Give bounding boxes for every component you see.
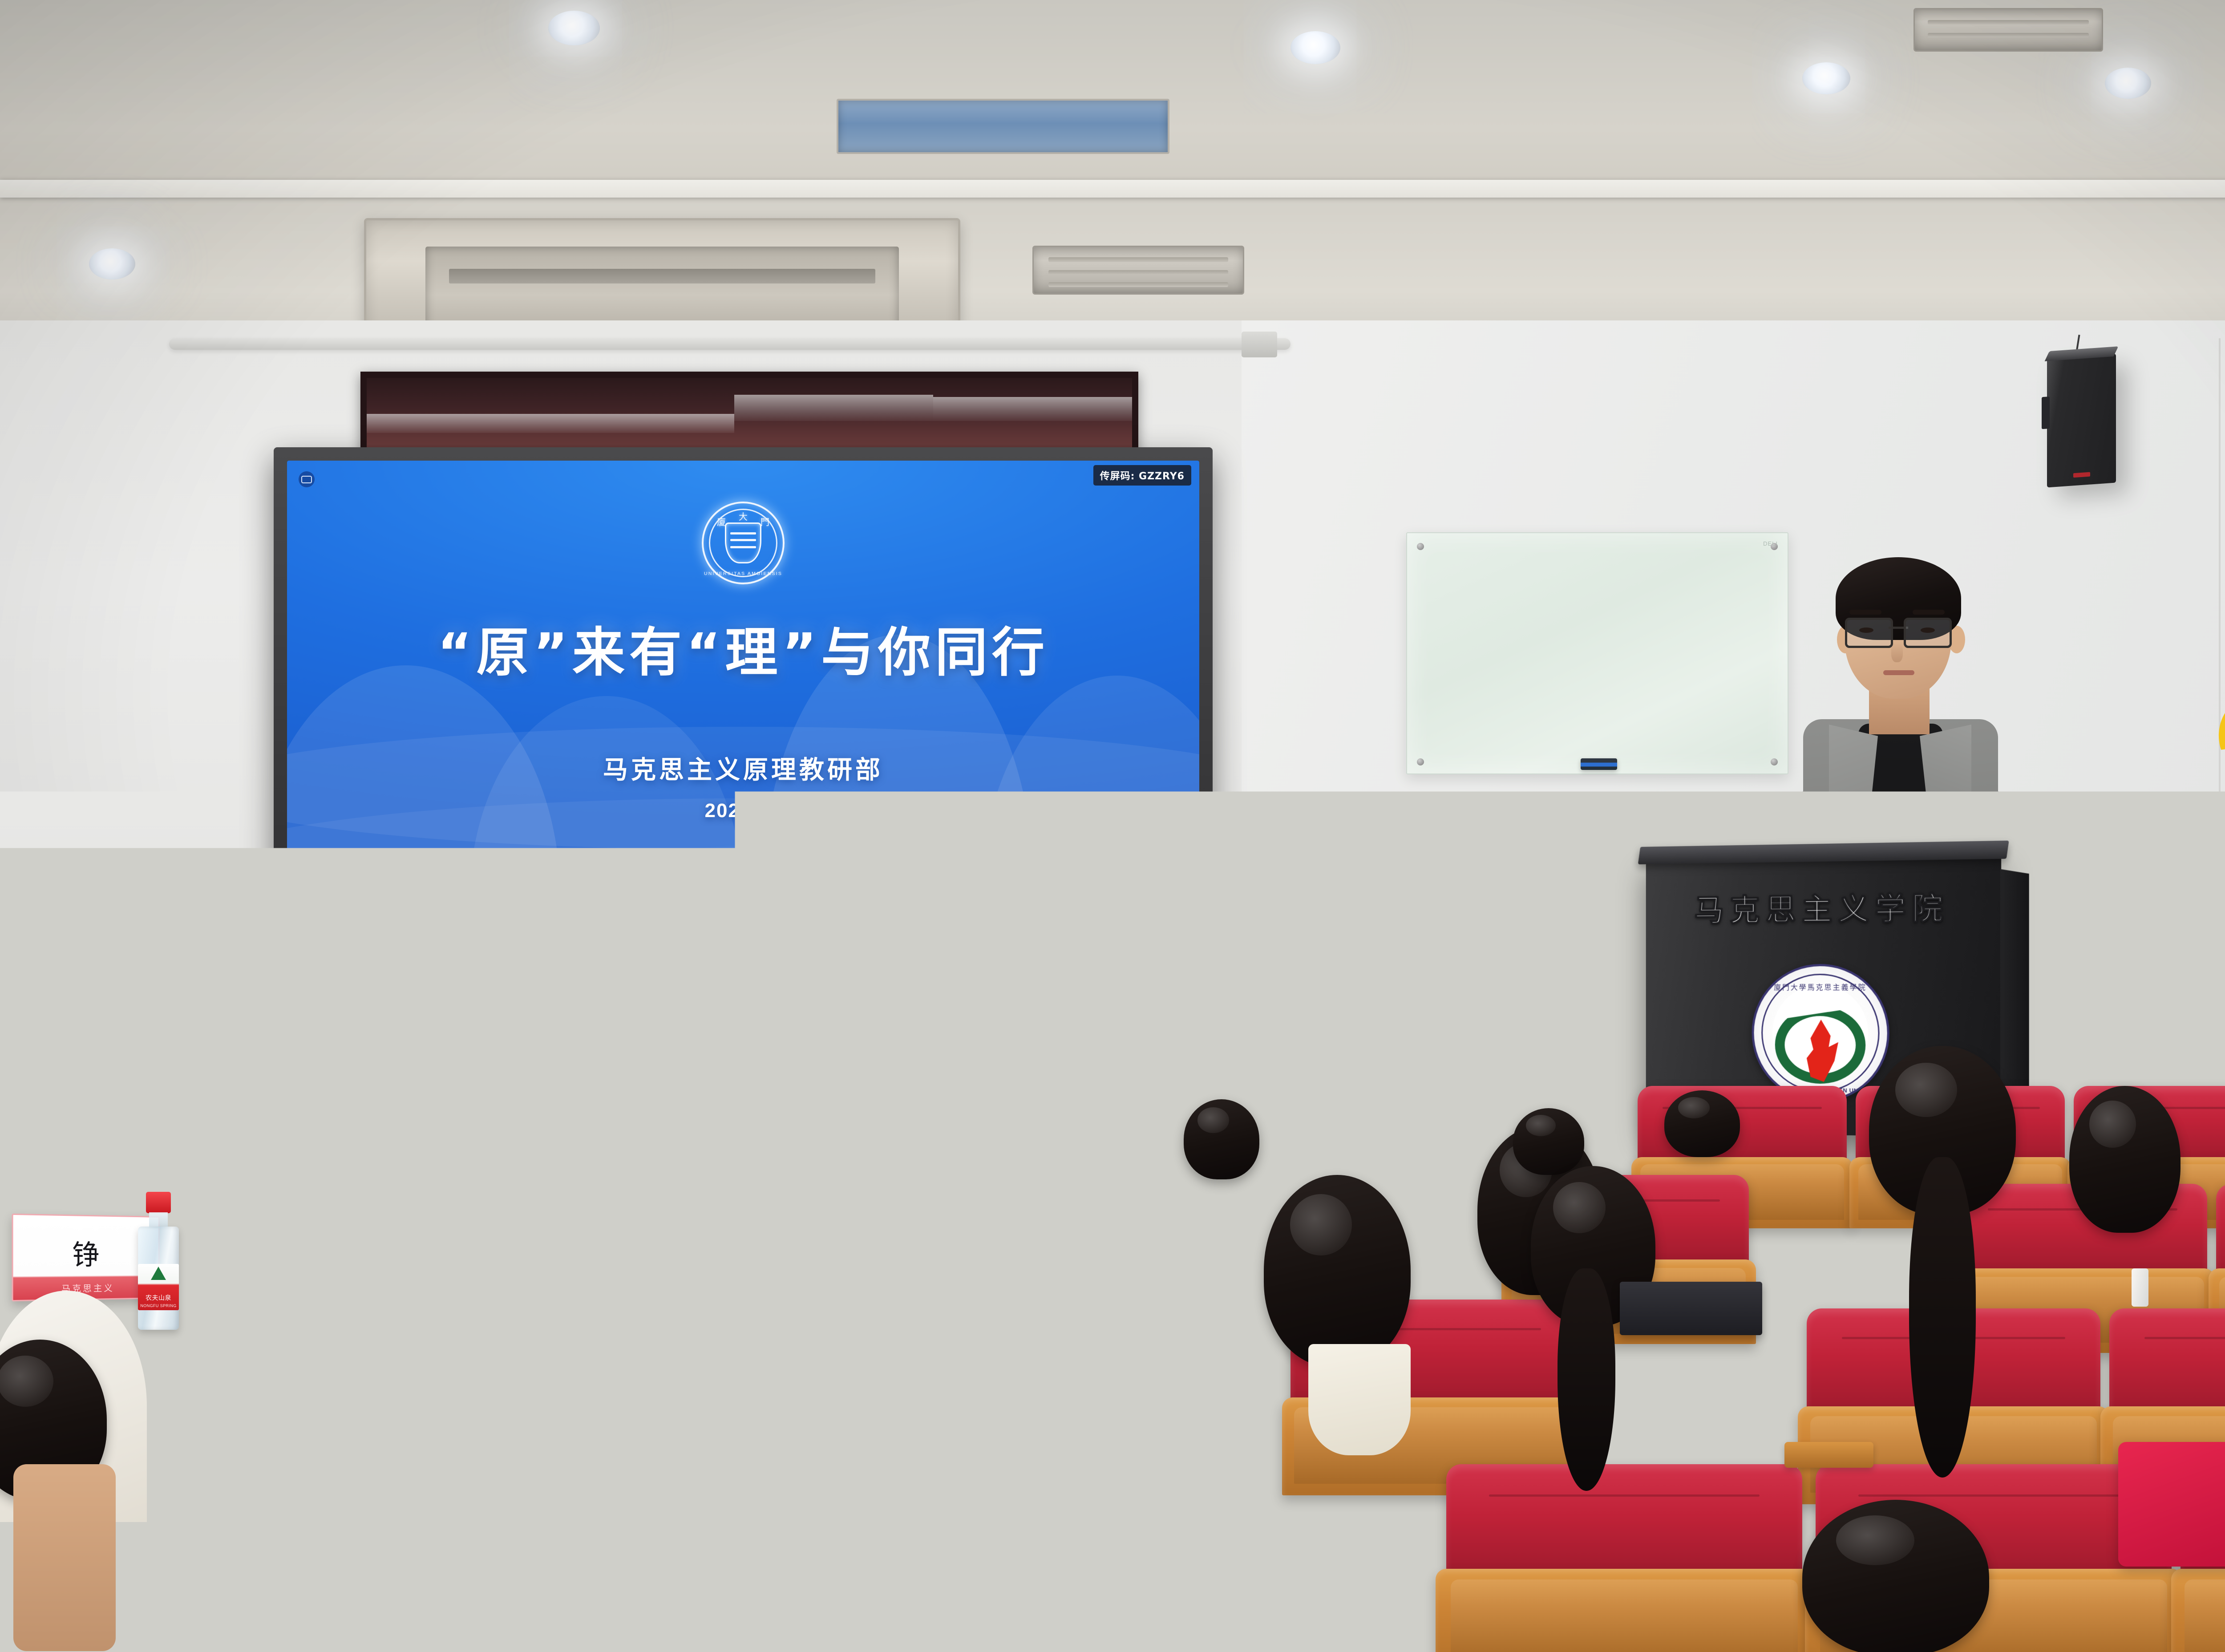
audience-person-arm xyxy=(13,1464,116,1651)
audience-person-head xyxy=(2069,1086,2180,1233)
seat-armrest xyxy=(1784,1442,1873,1468)
audience-person-head xyxy=(1184,1099,1259,1179)
audience-person-ponytail xyxy=(1557,1268,1615,1491)
blue-marker-eraser-icon[interactable] xyxy=(1581,758,1617,770)
screen-cast-icon[interactable] xyxy=(299,471,315,487)
air-conditioner-icon xyxy=(837,99,1169,154)
name-card: 铮 马克思主义 xyxy=(12,1214,159,1301)
air-conditioner-icon xyxy=(1032,246,1244,295)
audience-person-head xyxy=(1664,1090,1740,1157)
emblem-ring-cjk: 廈門大學馬克思主義學院 xyxy=(1754,981,1887,992)
audience-person-head xyxy=(1264,1175,1411,1366)
ceiling-downlight-icon xyxy=(89,248,135,279)
screen-cast-code: 传屏码: GZZRY6 xyxy=(1093,465,1191,486)
water-bottle[interactable] xyxy=(2132,1268,2148,1307)
display-panel[interactable]: 传屏码: GZZRY6 廈 門 大 UNIVERSITAS AMOIENSIS xyxy=(287,461,1199,972)
microphone-head-icon xyxy=(174,967,193,979)
ceiling-downlight-icon xyxy=(548,11,600,45)
pink-jacket[interactable] xyxy=(2118,1442,2225,1567)
av-equipment-box xyxy=(1544,984,1655,1009)
smart-display[interactable]: 传屏码: GZZRY6 廈 門 大 UNIVERSITAS AMOIENSIS xyxy=(274,447,1213,1012)
emblem-cjk-left: 廈 xyxy=(717,515,726,528)
name-card-text: 铮 xyxy=(13,1231,158,1273)
emblem-cjk-right: 門 xyxy=(761,515,769,528)
audience-person-head xyxy=(1513,1108,1584,1175)
laptop[interactable] xyxy=(1620,1282,1762,1335)
water-bottle[interactable]: 农夫山泉 NONGFU SPRING xyxy=(138,1192,179,1330)
presentation-slide: 传屏码: GZZRY6 廈 門 大 UNIVERSITAS AMOIENSIS xyxy=(287,461,1199,972)
display-ports[interactable] xyxy=(1166,984,1190,992)
slide-title: “原”来有“理”与你同行 xyxy=(287,610,1199,686)
auditorium-seat[interactable] xyxy=(1446,1464,1802,1652)
slide-date: 2024.09 xyxy=(287,800,1199,822)
water-bottle[interactable]: 农夫山泉 NONGFU SPRING xyxy=(1157,1041,1186,1144)
lecture-hall-photo: 传屏码: GZZRY6 廈 門 大 UNIVERSITAS AMOIENSIS xyxy=(0,0,2225,1652)
auditorium-seat[interactable] xyxy=(160,1460,512,1652)
seat-armrest xyxy=(1215,1437,1313,1464)
bottle-label-cjk: 农夫山泉 xyxy=(1377,1110,1407,1117)
microphone-head-icon xyxy=(66,1002,85,1015)
bottle-label-en: NONGFU SPRING xyxy=(1377,1120,1407,1123)
audience-person-head xyxy=(863,1139,1010,1326)
bottle-label-en: NONGFU SPRING xyxy=(1157,1124,1186,1127)
webcam-icon xyxy=(733,980,753,1001)
slide-department: 马克思主义原理教研部 xyxy=(287,750,1199,786)
water-bottle[interactable]: 农夫山泉 NONGFU SPRING xyxy=(1377,1037,1407,1139)
stage-chair[interactable] xyxy=(27,948,276,1059)
stage-chair[interactable] xyxy=(311,948,561,1059)
emblem-latin-text: UNIVERSITAS AMOIENSIS xyxy=(704,571,783,576)
whiteboard-brand: DELI xyxy=(1763,540,1778,547)
loudspeaker-icon xyxy=(2047,354,2116,488)
auditorium-seat[interactable] xyxy=(872,1460,1224,1652)
university-emblem-icon: 廈 門 大 UNIVERSITAS AMOIENSIS xyxy=(702,502,785,584)
stage-chair[interactable] xyxy=(859,948,1090,1059)
emblem-cjk-top: 大 xyxy=(739,510,748,522)
display-brand: MAXHUB xyxy=(725,967,761,975)
whiteboard-screw xyxy=(1417,543,1424,550)
whiteboard-screw xyxy=(1417,758,1424,765)
seat-armrest xyxy=(489,1429,587,1455)
bottle-label-cjk: 农夫山泉 xyxy=(138,1293,179,1302)
auditorium-seat[interactable] xyxy=(516,1455,868,1652)
bottle-label-cjk: 农夫山泉 xyxy=(1157,1114,1186,1122)
ceiling-downlight-icon xyxy=(1290,31,1340,64)
ceiling-downlight-icon xyxy=(2105,68,2151,99)
bottle-label-en: NONGFU SPRING xyxy=(138,1304,179,1308)
air-conditioner-icon xyxy=(1913,8,2103,52)
marxism-school-emblem-icon: 廈門大學馬克思主義學院 SCHOOL OF MARXISM XIAMEN UNI… xyxy=(1752,964,1889,1102)
ceiling xyxy=(0,0,2225,338)
name-card-subtitle: 马克思主义 xyxy=(13,1280,158,1295)
conduit-box xyxy=(1242,332,1277,357)
wall-seam xyxy=(2219,338,2221,1006)
white-cloth[interactable] xyxy=(1308,1344,1411,1455)
glass-whiteboard[interactable]: DELI xyxy=(1406,532,1788,774)
ceiling-downlight-icon xyxy=(1802,62,1850,94)
conduit-pipe xyxy=(169,338,1290,350)
audience-person-head xyxy=(1802,1500,1989,1652)
podium-organization-text: 马克思主义学院 xyxy=(1646,883,2001,930)
emblem-shield xyxy=(725,522,761,563)
audience-person-ponytail xyxy=(1909,1157,1976,1478)
